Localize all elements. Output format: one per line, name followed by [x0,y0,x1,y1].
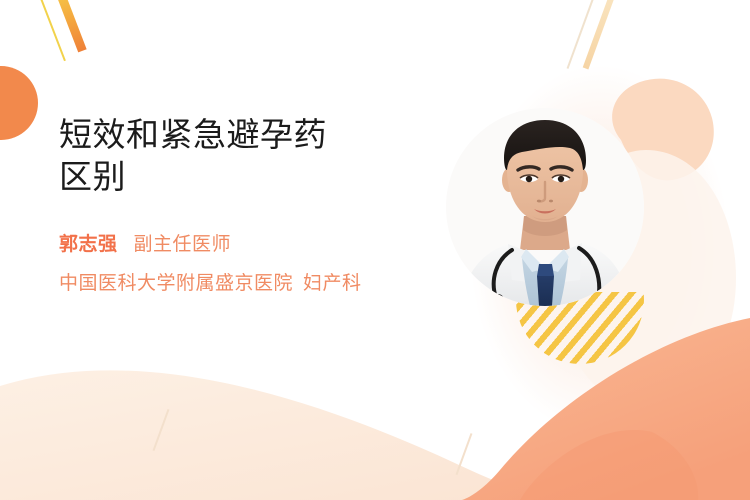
page-title: 短效和紧急避孕药 区别 [59,114,439,197]
hairline-decor-left [153,409,170,451]
doctor-hospital: 中国医科大学附属盛京医院 [59,273,293,294]
doctor-name-row: 郭志强 副主任医师 [59,229,439,256]
portrait-nostril-right [549,200,553,203]
top-right-stripes-decor [570,0,650,72]
doctor-title: 副主任医师 [134,229,232,256]
portrait-tie-knot [537,264,554,276]
doctor-department: 妇产科 [303,273,362,294]
portrait-nostril-left [537,200,541,203]
avatar [446,108,644,306]
doctor-intro-card: 短效和紧急避孕药 区别 郭志强 副主任医师 中国医科大学附属盛京医院妇产科 [0,0,750,500]
text-block: 短效和紧急避孕药 区别 郭志强 副主任医师 中国医科大学附属盛京医院妇产科 [59,114,439,295]
doctor-affiliation-row: 中国医科大学附属盛京医院妇产科 [59,268,439,295]
top-left-stripes-decor [22,0,112,68]
stethoscope-chestpiece [492,294,504,306]
doctor-name: 郭志强 [59,229,118,256]
hairline-decor-right [456,433,472,475]
portrait-pupil-right [558,176,564,182]
orange-circle-decor [0,66,38,140]
portrait-pupil-left [526,176,532,182]
bottom-soft-wave [0,370,750,500]
doctor-meta: 郭志强 副主任医师 中国医科大学附属盛京医院妇产科 [59,229,439,295]
doctor-portrait [446,108,644,306]
bottom-right-lobe [520,430,698,500]
stripe-thick-orange [50,0,86,52]
